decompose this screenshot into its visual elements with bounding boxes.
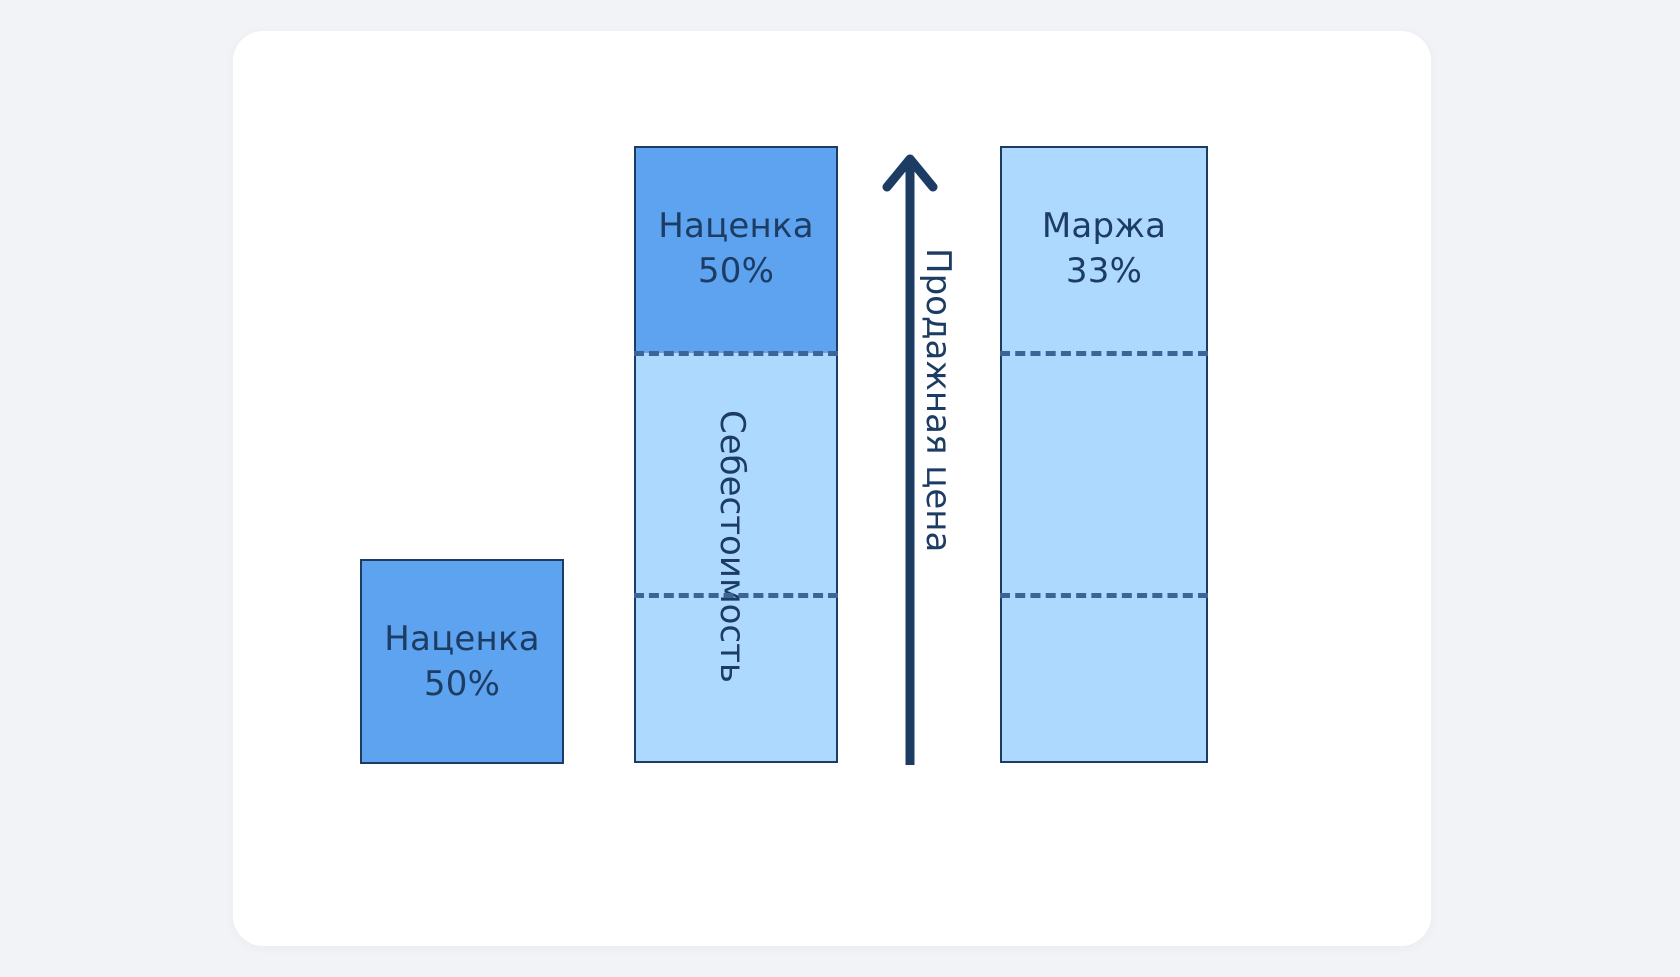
segment-markup-label-line2: 50%	[636, 249, 836, 294]
bar-cost-plus-markup: Наценка 50% Себестоимость	[634, 146, 838, 763]
bar-markup-standalone-label-line2: 50%	[362, 662, 562, 707]
bar-markup-standalone: Наценка 50%	[360, 559, 564, 764]
segment-markup-label: Наценка 50%	[636, 204, 836, 294]
bar-selling-price-label-line2: 33%	[1002, 249, 1206, 294]
bar-selling-price-label-line1: Маржа	[1002, 204, 1206, 249]
dash-line-middle-upper	[634, 351, 838, 356]
selling-price-arrow-label: Продажная цена	[921, 248, 955, 552]
bar-markup-standalone-label: Наценка 50%	[362, 617, 562, 707]
diagram-stage: Наценка 50% Наценка 50% Себестоимость	[0, 0, 1680, 977]
bar-selling-price: Маржа 33%	[1000, 146, 1208, 763]
dash-line-middle-lower	[634, 593, 838, 598]
segment-cost-label: Себестоимость	[715, 410, 749, 683]
bar-selling-price-label: Маржа 33%	[1002, 204, 1206, 294]
pricing-diagram: Наценка 50% Наценка 50% Себестоимость	[0, 0, 1680, 977]
dash-line-right-upper	[1000, 351, 1208, 356]
segment-markup-label-line1: Наценка	[636, 204, 836, 249]
bar-markup-standalone-label-line1: Наценка	[362, 617, 562, 662]
dash-line-right-lower	[1000, 593, 1208, 598]
